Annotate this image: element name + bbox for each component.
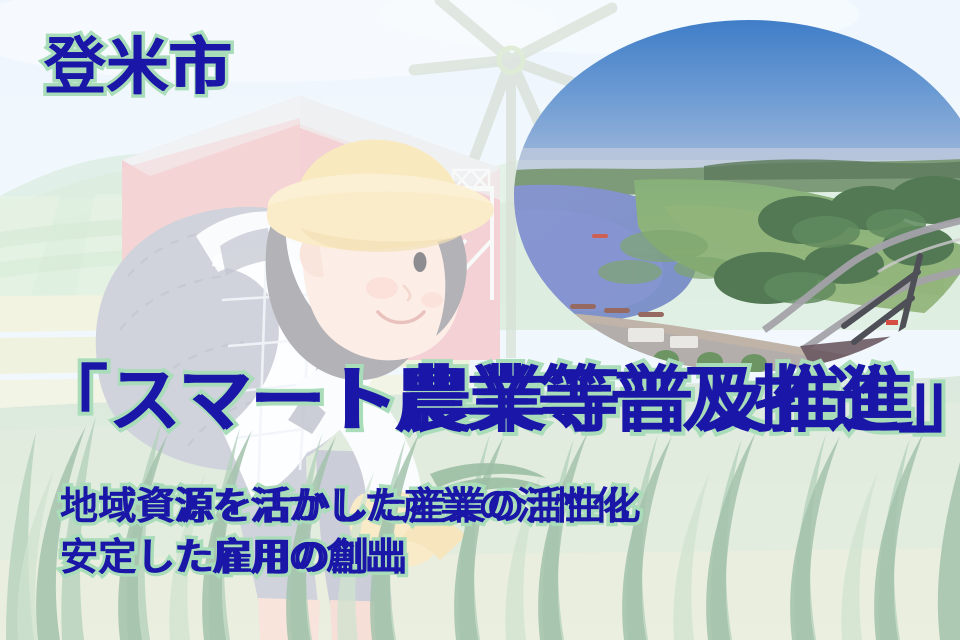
main-title: 「スマート農業等普及推進」 [36,364,960,436]
poster-canvas: 登米市 登米市 「スマート農業等普及推進」 「スマート農業等普及推進」 地域資源… [0,0,960,640]
city-name: 登米市 [44,36,230,98]
subtitle-line1: 地域資源を活かした産業の活性化 [60,487,630,525]
subtitle-line2: 安定した雇用の創出 [60,538,402,576]
